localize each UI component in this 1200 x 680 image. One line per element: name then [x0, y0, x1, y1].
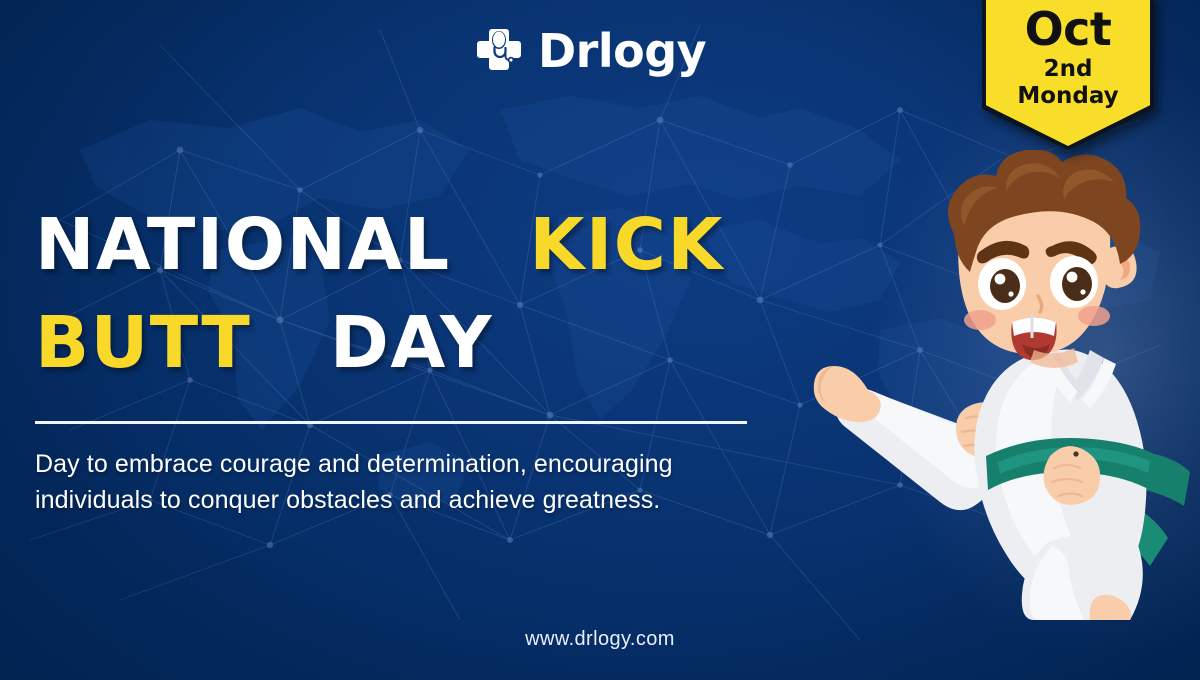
poster-canvas: Drlogy Oct 2nd Monday NATIONAL KICK BUTT…	[0, 0, 1200, 680]
title-word-kick: KICK	[529, 203, 724, 286]
badge-content: Oct 2nd Monday	[982, 0, 1154, 150]
footer-website[interactable]: www.drlogy.com	[0, 628, 1200, 651]
title-line-2: BUTT DAY	[35, 294, 724, 392]
date-badge: Oct 2nd Monday	[982, 0, 1154, 150]
karate-boy-illustration	[812, 150, 1200, 620]
title-word-national: NATIONAL	[35, 203, 451, 286]
title-divider	[35, 421, 747, 424]
brand-name: Drlogy	[538, 28, 706, 74]
subtitle-text: Day to embrace courage and determination…	[35, 446, 765, 519]
title-word-day: DAY	[330, 301, 493, 384]
page-title: NATIONAL KICK BUTT DAY	[35, 196, 724, 392]
badge-month: Oct	[982, 6, 1154, 53]
title-word-butt: BUTT	[35, 301, 251, 384]
badge-weekday: Monday	[982, 84, 1154, 109]
badge-ordinal: 2nd	[982, 55, 1154, 84]
title-line-1: NATIONAL KICK	[35, 196, 724, 294]
brand-logo[interactable]: Drlogy	[474, 26, 706, 76]
medical-cross-stethoscope-icon	[474, 26, 524, 76]
boy-head	[948, 150, 1140, 360]
